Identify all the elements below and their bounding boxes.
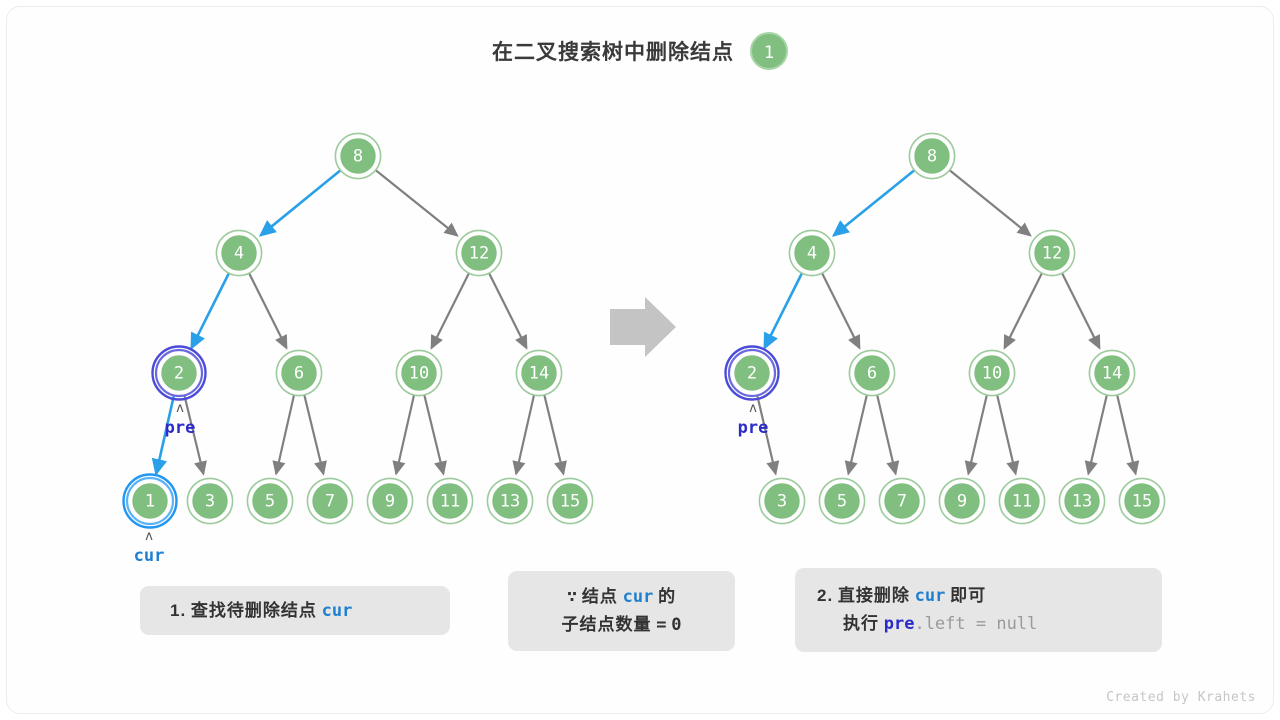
step-2-line-1-a: 直接删除 [838,586,910,605]
tree-node-label: 9 [957,492,967,512]
tree-node-label: 12 [469,244,489,264]
tree-edge [848,395,866,474]
tree-node-label: 7 [325,492,335,512]
pointer-caret-icon: ʌ [749,401,757,416]
tree-node-label: 5 [265,492,275,512]
right-tree-nodes: 84122610143579111315 [726,133,1165,523]
tree-edge [765,273,802,348]
reason-value: 0 [671,615,681,635]
tree-edge [376,170,458,235]
tree-node-label: 15 [560,492,580,512]
tree-node-label: 10 [409,364,429,384]
tree-node: 14 [516,350,561,395]
reason-line-1-b: 的 [658,587,676,606]
pointer-pre: ʌpre [165,401,196,438]
step-2-index: 2. [817,586,833,605]
tree-node-label: 6 [294,364,304,384]
tree-node: 2 [153,347,206,400]
tree-node-label: 2 [747,364,757,384]
tree-edge [997,395,1015,474]
tree-node: 4 [216,230,261,275]
tree-edge [424,395,443,474]
tree-node-label: 12 [1042,244,1062,264]
page-title-text: 在二叉搜索树中删除结点 [492,41,734,64]
tree-edge [304,395,323,474]
tree-node-label: 5 [837,492,847,512]
step-2-code-pre: pre [884,614,915,634]
caption-step-2: 2. 直接删除 cur 即可 执行 pre.left = null [795,568,1162,652]
tree-node: 5 [819,478,864,523]
tree-node: 3 [759,478,804,523]
tree-node: 10 [969,350,1014,395]
tree-node-label: 11 [440,492,460,512]
tree-edge [249,273,286,348]
tree-node: 2 [726,347,779,400]
right-tree-edges [757,170,1135,474]
tree-node-label: 10 [982,364,1002,384]
tree-edge [184,395,203,474]
tree-edge [822,273,859,348]
tree-node: 8 [909,133,954,178]
tree-node-label: 4 [807,244,817,264]
pointer-caret-icon: ʌ [145,529,153,544]
tree-node-label: 4 [234,244,244,264]
caption-reason-line-1: ∵ 结点 cur 的 [567,583,676,611]
tree-node-label: 14 [1102,364,1122,384]
reason-line-1-a: 结点 [582,587,618,606]
step-1-text: 查找待删除结点 [191,601,317,620]
caption-step-2-line-2: 执行 pre.left = null [817,610,1162,638]
tree-node: 12 [1029,230,1074,275]
pointer-label: pre [165,418,196,438]
caption-reason-line-2: 子结点数量 = 0 [562,611,682,639]
step-2-code-rest: .left = null [914,614,1037,634]
tree-node-label: 1 [145,492,155,512]
transition-arrow-icon [610,297,676,357]
tree-edge [1062,273,1099,348]
pointer-label: pre [738,418,769,438]
tree-edge [1117,395,1135,474]
step-2-line-2-a: 执行 [843,614,879,633]
tree-node-label: 2 [174,364,184,384]
tree-node: 14 [1089,350,1134,395]
tree-node: 11 [427,478,472,523]
tree-node: 9 [939,478,984,523]
page-title: 在二叉搜索树中删除结点1 [0,32,1280,70]
tree-edge [516,395,534,474]
tree-edge [949,170,1030,235]
pointer-pre: ʌpre [738,401,769,438]
tree-node: 4 [789,230,834,275]
reason-line-2-a: 子结点数量 [562,615,652,634]
tree-node: 15 [547,478,592,523]
tree-node: 11 [999,478,1044,523]
pointer-caret-icon: ʌ [176,401,184,416]
tree-node-label: 9 [385,492,395,512]
step-2-line-1-b: 即可 [950,586,986,605]
tree-node-label: 11 [1012,492,1032,512]
tree-node-label: 15 [1132,492,1152,512]
tree-edge [192,273,229,348]
tree-edge [968,395,986,474]
left-tree-pointers: ʌpreʌcur [134,401,196,566]
caption-step-2-line-1: 2. 直接删除 cur 即可 [817,582,1162,610]
left-tree-edges [156,170,563,474]
tree-node: 13 [1059,478,1104,523]
step-1-index: 1. [170,601,186,620]
tree-edge [156,395,174,474]
tree-edge [261,170,341,235]
tree-node: 10 [396,350,441,395]
tree-node: 5 [247,478,292,523]
tree-node-label: 7 [897,492,907,512]
tree-node: 12 [456,230,501,275]
tree-node-label: 3 [777,492,787,512]
tree-node: 1 [124,475,177,528]
tree-edge [489,273,526,348]
tree-node: 7 [879,478,924,523]
caption-reason: ∵ 结点 cur 的 子结点数量 = 0 [508,571,735,651]
tree-node-label: 13 [1072,492,1092,512]
tree-node: 15 [1119,478,1164,523]
right-tree-pointers: ʌpre [738,401,769,438]
tree-node-label: 14 [529,364,549,384]
tree-edge [544,395,563,474]
tree-edge [1005,273,1042,348]
tree-edge [432,273,469,348]
tree-node-label: 8 [353,147,363,167]
step-badge: 1 [750,32,788,70]
tree-node: 13 [487,478,532,523]
tree-edge [757,395,775,474]
tree-node-label: 3 [205,492,215,512]
tree-node: 3 [187,478,232,523]
step-1-code-cur: cur [322,601,353,621]
tree-node-label: 6 [867,364,877,384]
left-tree-nodes: 841226101413579111315 [124,133,593,527]
tree-edge [396,395,414,474]
tree-edge [1088,395,1106,474]
tree-node-label: 13 [500,492,520,512]
tree-node: 8 [335,133,380,178]
pointer-label: cur [134,546,165,566]
tree-node: 6 [276,350,321,395]
tree-node: 7 [307,478,352,523]
caption-step-1-line: 1. 查找待删除结点 cur [170,597,450,625]
caption-step-1: 1. 查找待删除结点 cur [140,586,450,635]
tree-node: 6 [849,350,894,395]
tree-edge [276,395,294,474]
tree-edge [877,395,895,474]
step-2-code-cur: cur [915,586,946,606]
footer-credit: Created by Krahets [1106,690,1256,705]
diagram-page: 在二叉搜索树中删除结点1 841226101413579111315 84122… [0,0,1280,720]
tree-node: 9 [367,478,412,523]
tree-edge [834,170,915,235]
tree-node-label: 8 [927,147,937,167]
reason-code-cur: cur [623,587,654,607]
pointer-cur: ʌcur [134,529,165,566]
reason-equals: = [656,615,666,635]
reason-symbol: ∵ [567,587,577,607]
